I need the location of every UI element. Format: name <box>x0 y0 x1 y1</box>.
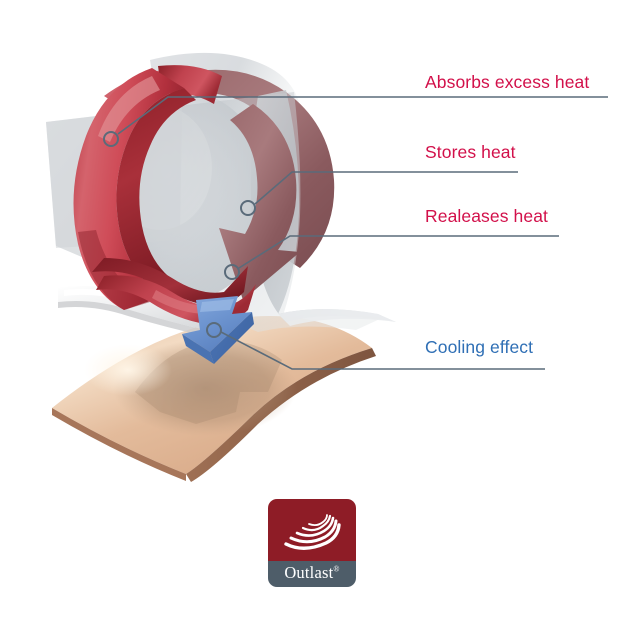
logo-wordmark-text: Outlast <box>284 563 333 582</box>
callout-label-cooling-effect: Cooling effect <box>425 339 533 357</box>
logo-wordmark: Outlast® <box>284 563 339 583</box>
skin-highlight <box>84 344 172 396</box>
callout-label-stores-heat: Stores heat <box>425 144 516 162</box>
diagram-canvas: Absorbs excess heat Stores heat Realease… <box>0 0 625 625</box>
callout-label-releases-heat: Realeases heat <box>425 208 548 226</box>
swoosh-icon <box>282 513 342 555</box>
callout-label-absorbs-excess-heat: Absorbs excess heat <box>425 74 589 92</box>
registered-mark: ® <box>333 565 339 574</box>
logo-bottom-panel: Outlast® <box>268 561 356 587</box>
outlast-logo: Outlast® <box>268 499 356 587</box>
